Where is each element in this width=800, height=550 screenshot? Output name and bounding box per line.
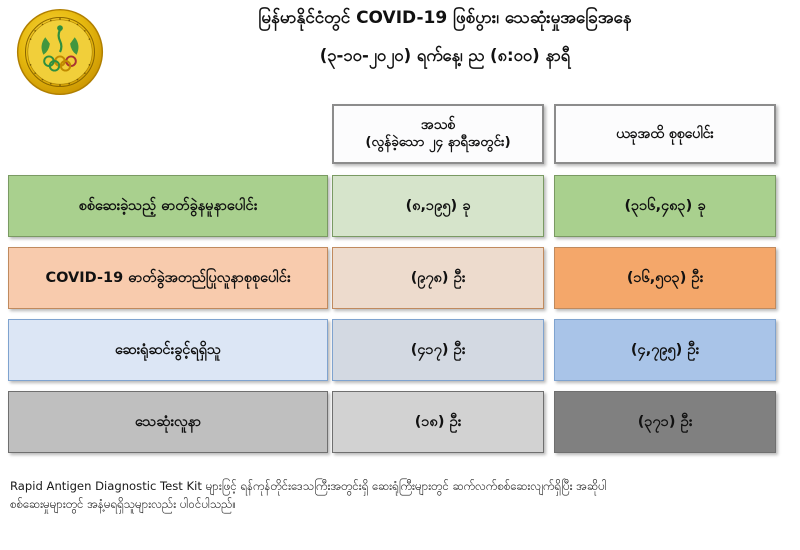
page-title: မြန်မာနိုင်ငံတွင် COVID-19 ဖြစ်ပွား၊ သေဆ… — [120, 8, 770, 29]
footnote-line-2: စစ်ဆေးမှုများတွင် အနံ့မရရှိသူများလည်း ပါ… — [10, 496, 792, 514]
column-header-total-line1: ယခုအထိ စုစုပေါင်း — [616, 125, 714, 143]
row-total-discharged: (၄,၇၉၅) ဦး — [554, 319, 776, 381]
row-label-discharged: ဆေးရုံဆင်းခွင့်ရရှိသူ — [8, 319, 328, 381]
row-label-deaths: သေဆုံးလူနာ — [8, 391, 328, 453]
page-header: မြန်မာနိုင်ငံတွင် COVID-19 ဖြစ်ပွား၊ သေဆ… — [0, 0, 800, 100]
row-total-deaths: (၃၇၁) ဦး — [554, 391, 776, 453]
column-header-new: အသစ် (လွန်ခဲ့သော ၂၄ နာရီအတွင်း) — [332, 104, 544, 164]
row-total-tests: (၃၁၆,၄၈၃) ခု — [554, 175, 776, 237]
table-header-row: အသစ် (လွန်ခဲ့သော ၂၄ နာရီအတွင်း) ယခုအထိ စ… — [0, 104, 800, 164]
table-row: COVID-19 ဓာတ်ခွဲအတည်ပြုလူနာစုစုပေါင်း (၉… — [0, 247, 800, 309]
row-label-confirmed: COVID-19 ဓာတ်ခွဲအတည်ပြုလူနာစုစုပေါင်း — [8, 247, 328, 309]
row-new-tests: (၈,၁၉၅) ခု — [332, 175, 544, 237]
column-header-new-line1: အသစ် — [365, 116, 510, 134]
title-block: မြန်မာနိုင်ငံတွင် COVID-19 ဖြစ်ပွား၊ သေဆ… — [120, 8, 770, 70]
report-datetime: (၃-၁၀-၂၀၂၀) ရက်နေ့၊ ည (၈:၀၀) နာရီ — [120, 46, 770, 70]
row-new-discharged: (၄၁၇) ဦး — [332, 319, 544, 381]
row-new-deaths: (၁၈) ဦး — [332, 391, 544, 453]
column-header-total: ယခုအထိ စုစုပေါင်း — [554, 104, 776, 164]
covid-summary-table: အသစ် (လွန်ခဲ့သော ၂၄ နာရီအတွင်း) ယခုအထိ စ… — [0, 104, 800, 463]
table-row: စစ်ဆေးခဲ့သည့် ဓာတ်ခွဲနမူနာပေါင်း (၈,၁၉၅)… — [0, 175, 800, 237]
row-total-confirmed: (၁၆,၅၀၃) ဦး — [554, 247, 776, 309]
footnote-line-1: Rapid Antigen Diagnostic Test Kit များဖြ… — [10, 478, 792, 496]
header-corner-blank — [8, 104, 328, 164]
column-header-new-line2: (လွန်ခဲ့သော ၂၄ နာရီအတွင်း) — [365, 134, 510, 152]
footnote: Rapid Antigen Diagnostic Test Kit များဖြ… — [10, 478, 792, 514]
row-label-tests: စစ်ဆေးခဲ့သည့် ဓာတ်ခွဲနမူနာပေါင်း — [8, 175, 328, 237]
table-row: ဆေးရုံဆင်းခွင့်ရရှိသူ (၄၁၇) ဦး (၄,၇၉၅) ဦ… — [0, 319, 800, 381]
row-new-confirmed: (၉၇၈) ဦး — [332, 247, 544, 309]
table-row: သေဆုံးလူနာ (၁၈) ဦး (၃၇၁) ဦး — [0, 391, 800, 453]
ministry-of-health-and-sports-seal-icon — [14, 6, 106, 98]
